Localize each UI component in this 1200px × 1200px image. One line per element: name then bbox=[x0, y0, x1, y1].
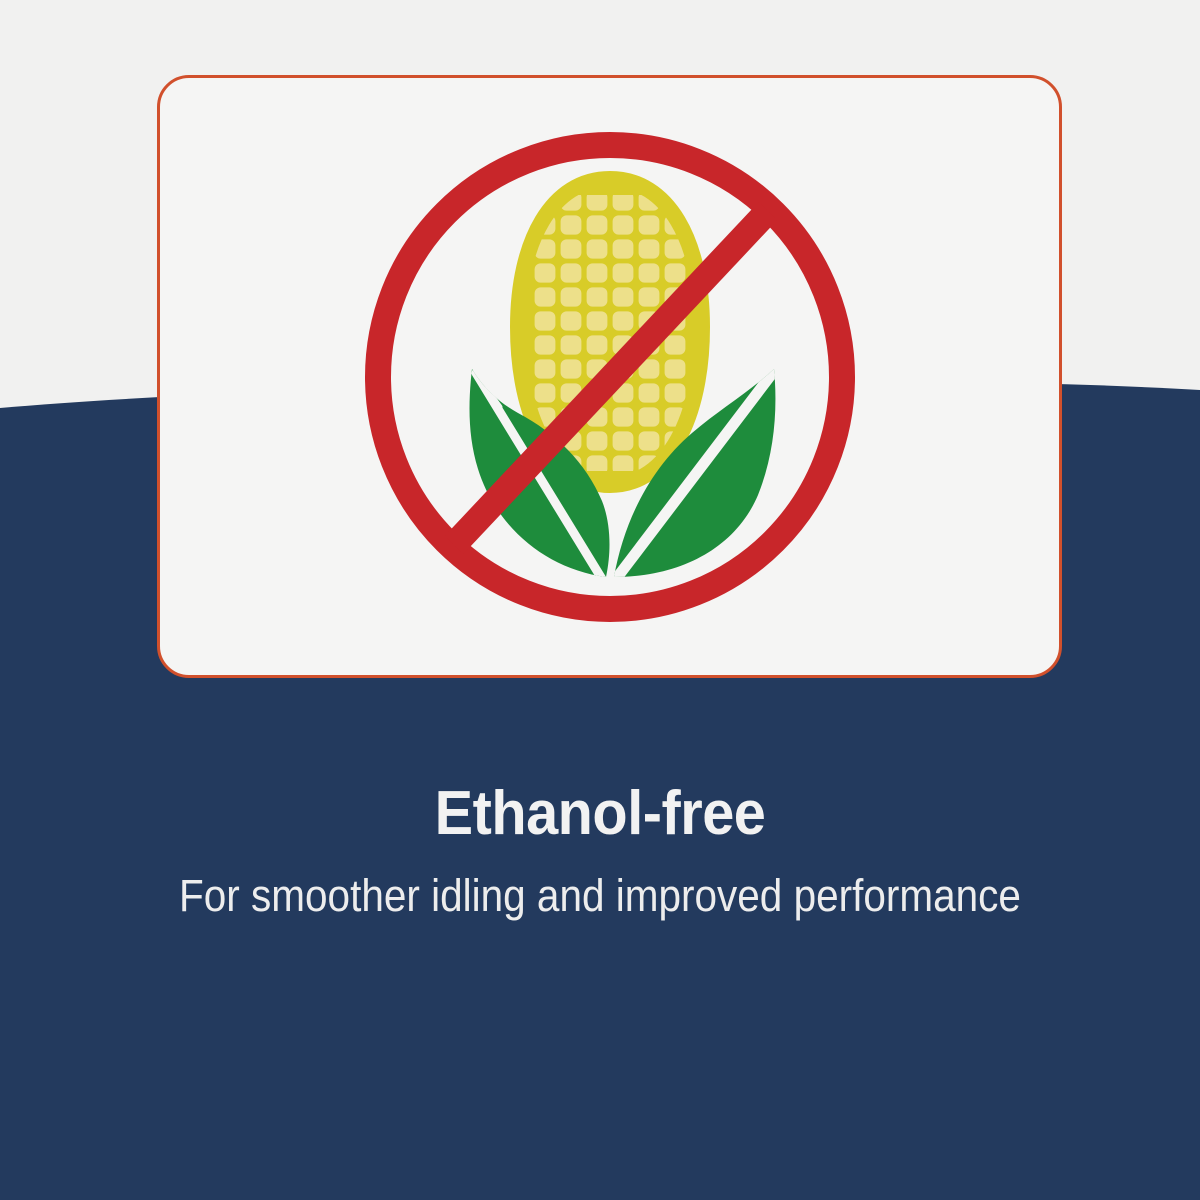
card-icon-container bbox=[160, 78, 1059, 675]
no-ethanol-corn-icon bbox=[350, 117, 870, 637]
caption-block: Ethanol-free For smoother idling and imp… bbox=[0, 782, 1200, 925]
feature-card bbox=[157, 75, 1062, 678]
caption-subtitle: For smoother idling and improved perform… bbox=[168, 867, 1032, 925]
feature-callout: Ethanol-free For smoother idling and imp… bbox=[0, 0, 1200, 1200]
page-title: Ethanol-free bbox=[154, 782, 1047, 845]
